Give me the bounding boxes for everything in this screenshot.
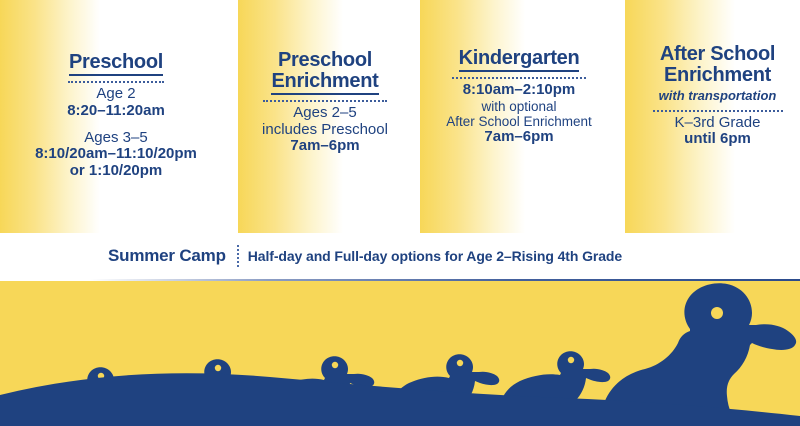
duck-illustration: [0, 281, 800, 426]
dotted-rule: [263, 97, 387, 102]
program-title-wrap: Kindergarten: [424, 48, 614, 72]
program-title-wrap: After School Enrichment: [640, 44, 795, 87]
program-line: Ages 3–5: [10, 130, 222, 147]
program-line: until 6pm: [640, 131, 795, 148]
programs-band: Preschool Age 2 8:20–11:20am Ages 3–5 8:…: [0, 0, 800, 233]
program-subtitle: with transportation: [659, 89, 777, 105]
program-title-wrap: Preschool: [10, 52, 222, 76]
program-title: Kindergarten: [459, 48, 580, 72]
program-kindergarten: Kindergarten 8:10am–2:10pm with optional…: [424, 48, 614, 146]
program-line: Ages 2–5: [240, 105, 410, 122]
program-preschool: Preschool Age 2 8:20–11:20am Ages 3–5 8:…: [10, 52, 222, 180]
duck-eye: [711, 307, 723, 319]
schedule-poster: Preschool Age 2 8:20–11:20am Ages 3–5 8:…: [0, 0, 800, 426]
duck-eye: [332, 362, 338, 368]
program-title-line-2: Enrichment: [271, 71, 378, 94]
program-line: Age 2: [10, 86, 222, 103]
duck-eye: [457, 360, 463, 366]
program-after-school-enrichment: After School Enrichment with transportat…: [640, 44, 795, 148]
summer-camp-title: Summer Camp: [108, 246, 226, 266]
summer-camp-description: Half-day and Full-day options for Age 2–…: [248, 248, 622, 264]
vertical-dotted-divider: [237, 245, 239, 267]
program-title-wrap: Preschool Enrichment: [240, 50, 410, 95]
dotted-rule: [653, 107, 783, 112]
program-line: 7am–6pm: [424, 129, 614, 146]
summer-camp-banner: Summer Camp Half-day and Full-day option…: [0, 233, 800, 281]
program-line: K–3rd Grade: [640, 115, 795, 132]
program-title-line-2: Enrichment: [664, 65, 771, 86]
dotted-rule: [68, 78, 164, 83]
program-line: 8:10am–2:10pm: [424, 82, 614, 99]
program-line: 8:20–11:20am: [10, 103, 222, 120]
duck-eye: [568, 357, 574, 363]
program-title-line-1: After School: [660, 44, 775, 65]
program-line: with optional: [424, 99, 614, 114]
program-line: After School Enrichment: [424, 114, 614, 129]
program-line: 8:10/20am–11:10/20pm: [10, 146, 222, 163]
summer-camp-content: Summer Camp Half-day and Full-day option…: [108, 245, 622, 267]
program-title-line-1: Preschool: [278, 50, 372, 71]
program-title: Preschool: [69, 52, 163, 76]
dotted-rule: [452, 74, 586, 79]
program-preschool-enrichment: Preschool Enrichment Ages 2–5 includes P…: [240, 50, 410, 155]
program-line: or 1:10/20pm: [10, 163, 222, 180]
program-line: includes Preschool: [240, 122, 410, 139]
program-line: 7am–6pm: [240, 138, 410, 155]
duck-eye: [215, 365, 221, 371]
